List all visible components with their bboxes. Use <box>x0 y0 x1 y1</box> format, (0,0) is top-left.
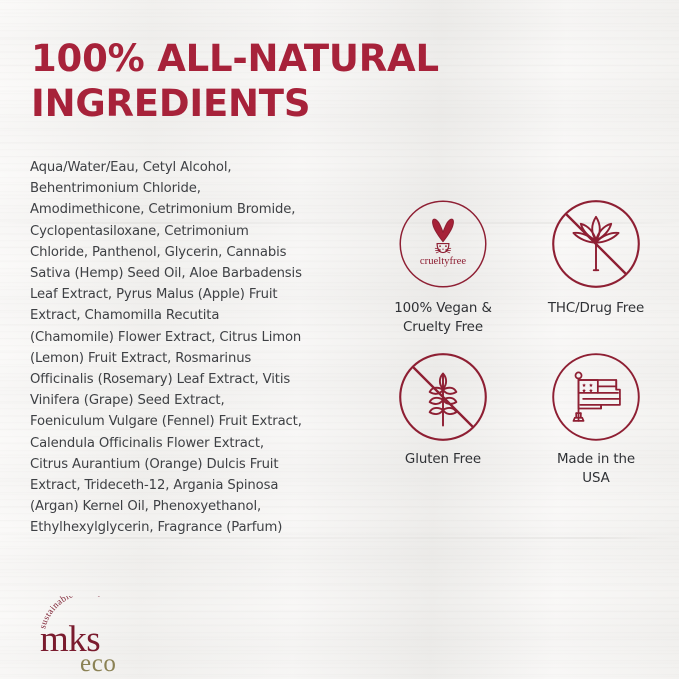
product-ingredients-panel: 100% ALL-NATURALINGREDIENTS Aqua/Water/E… <box>0 0 679 679</box>
badge-made-in-usa: Made in the USA <box>542 351 650 488</box>
badge-label: THC/Drug Free <box>548 299 644 318</box>
badge-vegan-cruelty-free: crueltyfree 100% Vegan & Cruelty Free <box>384 198 502 337</box>
brand-suffix: eco <box>80 650 117 672</box>
flag-stars <box>582 383 593 392</box>
page-title: 100% ALL-NATURALINGREDIENTS <box>31 36 501 126</box>
cruelty-free-emblem-text: crueltyfree <box>420 255 466 267</box>
usa-flag-pole-icon <box>550 351 642 443</box>
page-title-text: 100% ALL-NATURALINGREDIENTS <box>31 36 501 126</box>
badge-label: 100% Vegan & Cruelty Free <box>394 299 492 337</box>
no-wheat-stalk-icon <box>397 351 489 443</box>
ingredients-text: Aqua/Water/Eau, Cetyl Alcohol, Behentrim… <box>30 157 302 539</box>
page-title-line-2: INGREDIENTS <box>31 82 310 125</box>
no-cannabis-leaf-icon <box>550 198 642 290</box>
cruelty-free-bunny-heart-icon: crueltyfree <box>397 198 489 290</box>
badge-gluten-free: Gluten Free <box>384 351 502 488</box>
page-title-line-1: 100% ALL-NATURAL <box>31 37 439 80</box>
mks-eco-logo-mark: sustainable beauty mks eco <box>36 596 196 672</box>
badge-label: Gluten Free <box>405 450 481 469</box>
brand-logo: sustainable beauty mks eco <box>36 596 196 672</box>
badge-label: Made in the USA <box>542 450 650 488</box>
certification-badge-grid: crueltyfree 100% Vegan & Cruelty Free <box>372 198 652 488</box>
badge-thc-drug-free: THC/Drug Free <box>542 198 650 337</box>
